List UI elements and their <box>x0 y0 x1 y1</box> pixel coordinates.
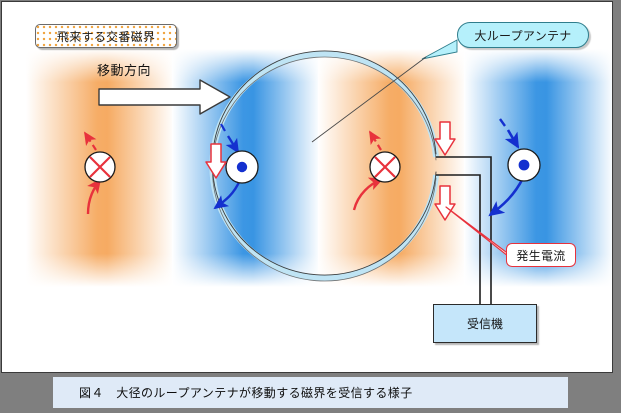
field-band-orange-1 <box>26 49 174 287</box>
figure-panel: 飛来する交番磁界 移動方向 大ループアンテナ 発生電流 受信機 <box>1 1 613 373</box>
callout-loop-antenna-label: 大ループアンテナ <box>474 27 571 44</box>
figure-caption-text: 図４ 大径のループアンテナが移動する磁界を受信する様子 <box>79 384 413 401</box>
callout-generated-current-label: 発生電流 <box>516 247 565 264</box>
callout-incoming-field-label: 飛来する交番磁界 <box>57 28 155 45</box>
field-band-orange-2 <box>318 49 466 287</box>
callout-loop-antenna: 大ループアンテナ <box>457 22 589 48</box>
figure-root: 飛来する交番磁界 移動方向 大ループアンテナ 発生電流 受信機 図４ 大径のルー… <box>0 0 621 413</box>
callout-incoming-field: 飛来する交番磁界 <box>35 24 177 48</box>
receiver-label: 受信機 <box>467 315 503 332</box>
receiver-box: 受信機 <box>433 304 537 343</box>
field-band-blue-1 <box>172 49 320 287</box>
callout-generated-current: 発生電流 <box>506 243 576 267</box>
figure-caption: 図４ 大径のループアンテナが移動する磁界を受信する様子 <box>53 377 568 408</box>
move-direction-label: 移動方向 <box>97 60 151 79</box>
